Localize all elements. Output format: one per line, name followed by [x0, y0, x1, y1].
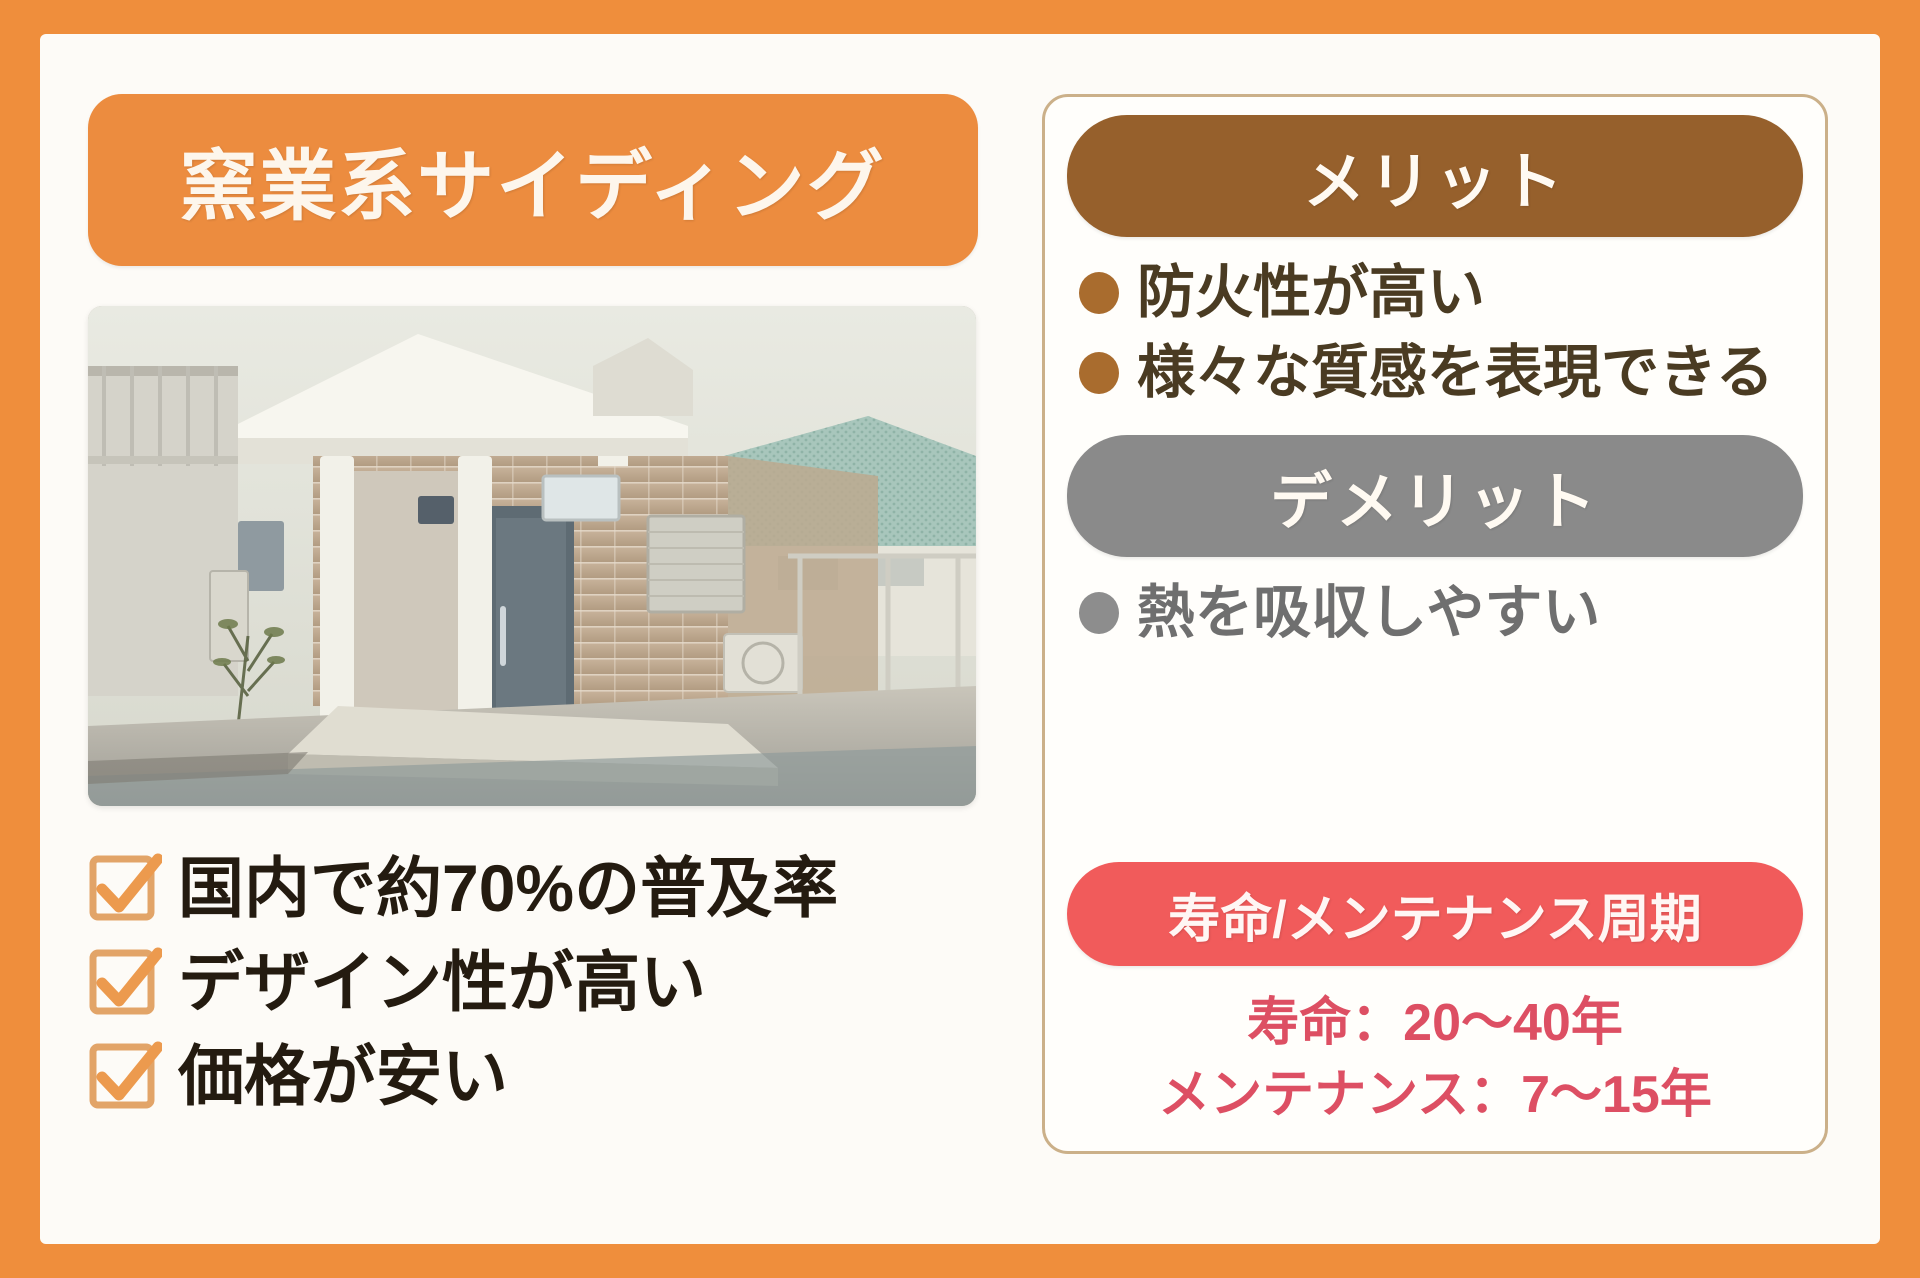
list-item: 価格が安い	[88, 1030, 998, 1122]
merit-demerit-card: メリット 防火性が高い 様々な質感を表現できる デメリット	[1042, 94, 1828, 1154]
feature-check-list: 国内で約70%の普及率 デザイン性が高い	[88, 842, 998, 1122]
infographic-poster: 窯業系サイディング	[0, 0, 1920, 1278]
poster-inner-card: 窯業系サイディング	[40, 34, 1880, 1244]
list-item-label: 様々な質感を表現できる	[1137, 344, 1774, 402]
list-item-label: 熱を吸収しやすい	[1137, 584, 1600, 642]
list-item: 熱を吸収しやすい	[1079, 575, 1825, 651]
bullet-dot-icon	[1079, 592, 1119, 634]
check-box-icon	[88, 851, 162, 925]
bullet-dot-icon	[1079, 272, 1119, 314]
list-item-label: 防火性が高い	[1137, 264, 1485, 322]
list-item: 様々な質感を表現できる	[1079, 335, 1825, 411]
bullet-dot-icon	[1079, 352, 1119, 394]
lifespan-line: 寿命：20〜40年	[1247, 992, 1623, 1055]
house-photo-illustration	[88, 306, 976, 806]
demerit-list: 熱を吸収しやすい	[1045, 557, 1825, 657]
list-item-label: 価格が安い	[178, 1043, 508, 1109]
maintenance-line: メンテナンス：7〜15年	[1158, 1064, 1712, 1127]
list-item-label: デザイン性が高い	[178, 949, 706, 1015]
page-title: 窯業系サイディング	[88, 94, 978, 266]
left-column: 窯業系サイディング	[88, 94, 998, 1200]
check-box-icon	[88, 1039, 162, 1113]
lifespan-values: 寿命：20〜40年 メンテナンス：7〜15年	[1045, 966, 1825, 1151]
layout-spacer	[1045, 657, 1825, 862]
list-item-label: 国内で約70%の普及率	[178, 855, 838, 921]
house-photo	[88, 306, 976, 806]
list-item: 防火性が高い	[1079, 255, 1825, 331]
list-item: デザイン性が高い	[88, 936, 998, 1028]
demerit-heading-label: デメリット	[1270, 451, 1600, 541]
list-item: 国内で約70%の普及率	[88, 842, 998, 934]
merit-list: 防火性が高い 様々な質感を表現できる	[1045, 237, 1825, 417]
check-box-icon	[88, 945, 162, 1019]
right-column: メリット 防火性が高い 様々な質感を表現できる デメリット	[1042, 94, 1828, 1200]
merit-heading-label: メリット	[1303, 131, 1567, 221]
merit-heading: メリット	[1067, 115, 1803, 237]
demerit-heading: デメリット	[1067, 435, 1803, 557]
lifespan-heading-label: 寿命/メンテナンス周期	[1168, 877, 1701, 952]
lifespan-heading: 寿命/メンテナンス周期	[1067, 862, 1803, 966]
page-title-label: 窯業系サイディング	[180, 125, 886, 236]
